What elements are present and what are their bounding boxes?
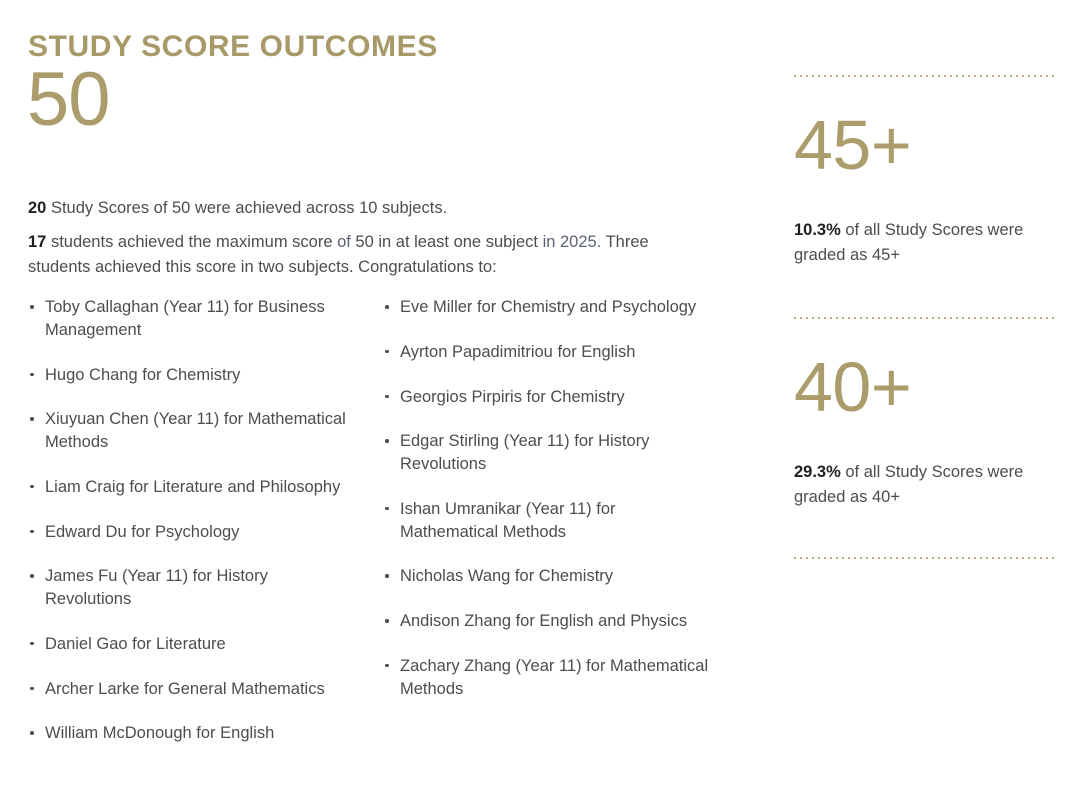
dotted-divider-bottom <box>794 557 1054 559</box>
intro-paragraph-1: 20 Study Scores of 50 were achieved acro… <box>28 196 708 222</box>
recipient-list-item: Andison Zhang for English and Physics <box>383 610 713 633</box>
recipient-list-item: Edgar Stirling (Year 11) for History Rev… <box>383 430 713 476</box>
recipient-list-item: Edward Du for Psychology <box>28 521 358 544</box>
recipient-list-item: Xiuyuan Chen (Year 11) for Mathematical … <box>28 408 358 454</box>
intro-1-lead: 20 <box>28 199 46 217</box>
stat-description-40-plus: 29.3% of all Study Scores were graded as… <box>794 460 1024 510</box>
stat-percent-45-plus: 10.3% <box>794 221 841 239</box>
recipients-list-right: Eve Miller for Chemistry and PsychologyA… <box>383 296 713 700</box>
recipients-list-left: Toby Callaghan (Year 11) for Business Ma… <box>28 296 358 745</box>
main-content: STUDY SCORE OUTCOMES 50 20 Study Scores … <box>0 0 760 803</box>
dotted-divider-top <box>794 75 1054 77</box>
stat-percent-40-plus: 29.3% <box>794 463 841 481</box>
intro-2-part-b: 50 in at least one subject <box>351 233 543 251</box>
recipient-list-item: Ayrton Papadimitriou for English <box>383 341 713 364</box>
recipients-column-right: Eve Miller for Chemistry and PsychologyA… <box>383 296 713 722</box>
recipient-list-item: Toby Callaghan (Year 11) for Business Ma… <box>28 296 358 342</box>
stat-value-45-plus: 45+ <box>794 110 1054 180</box>
statistics-sidebar: 45+ 10.3% of all Study Scores were grade… <box>794 0 1054 803</box>
stat-description-45-plus: 10.3% of all Study Scores were graded as… <box>794 218 1024 268</box>
study-score-outcomes-page: STUDY SCORE OUTCOMES 50 20 Study Scores … <box>0 0 1080 803</box>
stat-card-45-plus: 45+ 10.3% of all Study Scores were grade… <box>794 110 1054 268</box>
recipient-list-item: James Fu (Year 11) for History Revolutio… <box>28 565 358 611</box>
intro-2-tint-a: of <box>337 233 351 251</box>
intro-paragraph-2: 17 students achieved the maximum score o… <box>28 230 708 281</box>
recipient-list-item: Nicholas Wang for Chemistry <box>383 565 713 588</box>
intro-1-rest: Study Scores of 50 were achieved across … <box>46 199 447 217</box>
dotted-divider-middle <box>794 317 1054 319</box>
intro-2-tint-b: in 2025. <box>543 233 602 251</box>
intro-2-lead: 17 <box>28 233 46 251</box>
stat-value-40-plus: 40+ <box>794 352 1054 422</box>
recipient-list-item: Daniel Gao for Literature <box>28 633 358 656</box>
recipient-list-item: Archer Larke for General Mathematics <box>28 678 358 701</box>
recipient-list-item: Hugo Chang for Chemistry <box>28 364 358 387</box>
intro-2-part-a: students achieved the maximum score <box>46 233 337 251</box>
recipient-list-item: Zachary Zhang (Year 11) for Mathematical… <box>383 655 713 701</box>
stat-card-40-plus: 40+ 29.3% of all Study Scores were grade… <box>794 352 1054 510</box>
recipient-list-item: Liam Craig for Literature and Philosophy <box>28 476 358 499</box>
recipient-list-item: Eve Miller for Chemistry and Psychology <box>383 296 713 319</box>
recipient-list-item: Ishan Umranikar (Year 11) for Mathematic… <box>383 498 713 544</box>
headline-score-value: 50 <box>27 62 110 138</box>
recipient-list-item: William McDonough for English <box>28 722 358 745</box>
recipient-list-item: Georgios Pirpiris for Chemistry <box>383 386 713 409</box>
recipients-column-left: Toby Callaghan (Year 11) for Business Ma… <box>28 296 358 767</box>
